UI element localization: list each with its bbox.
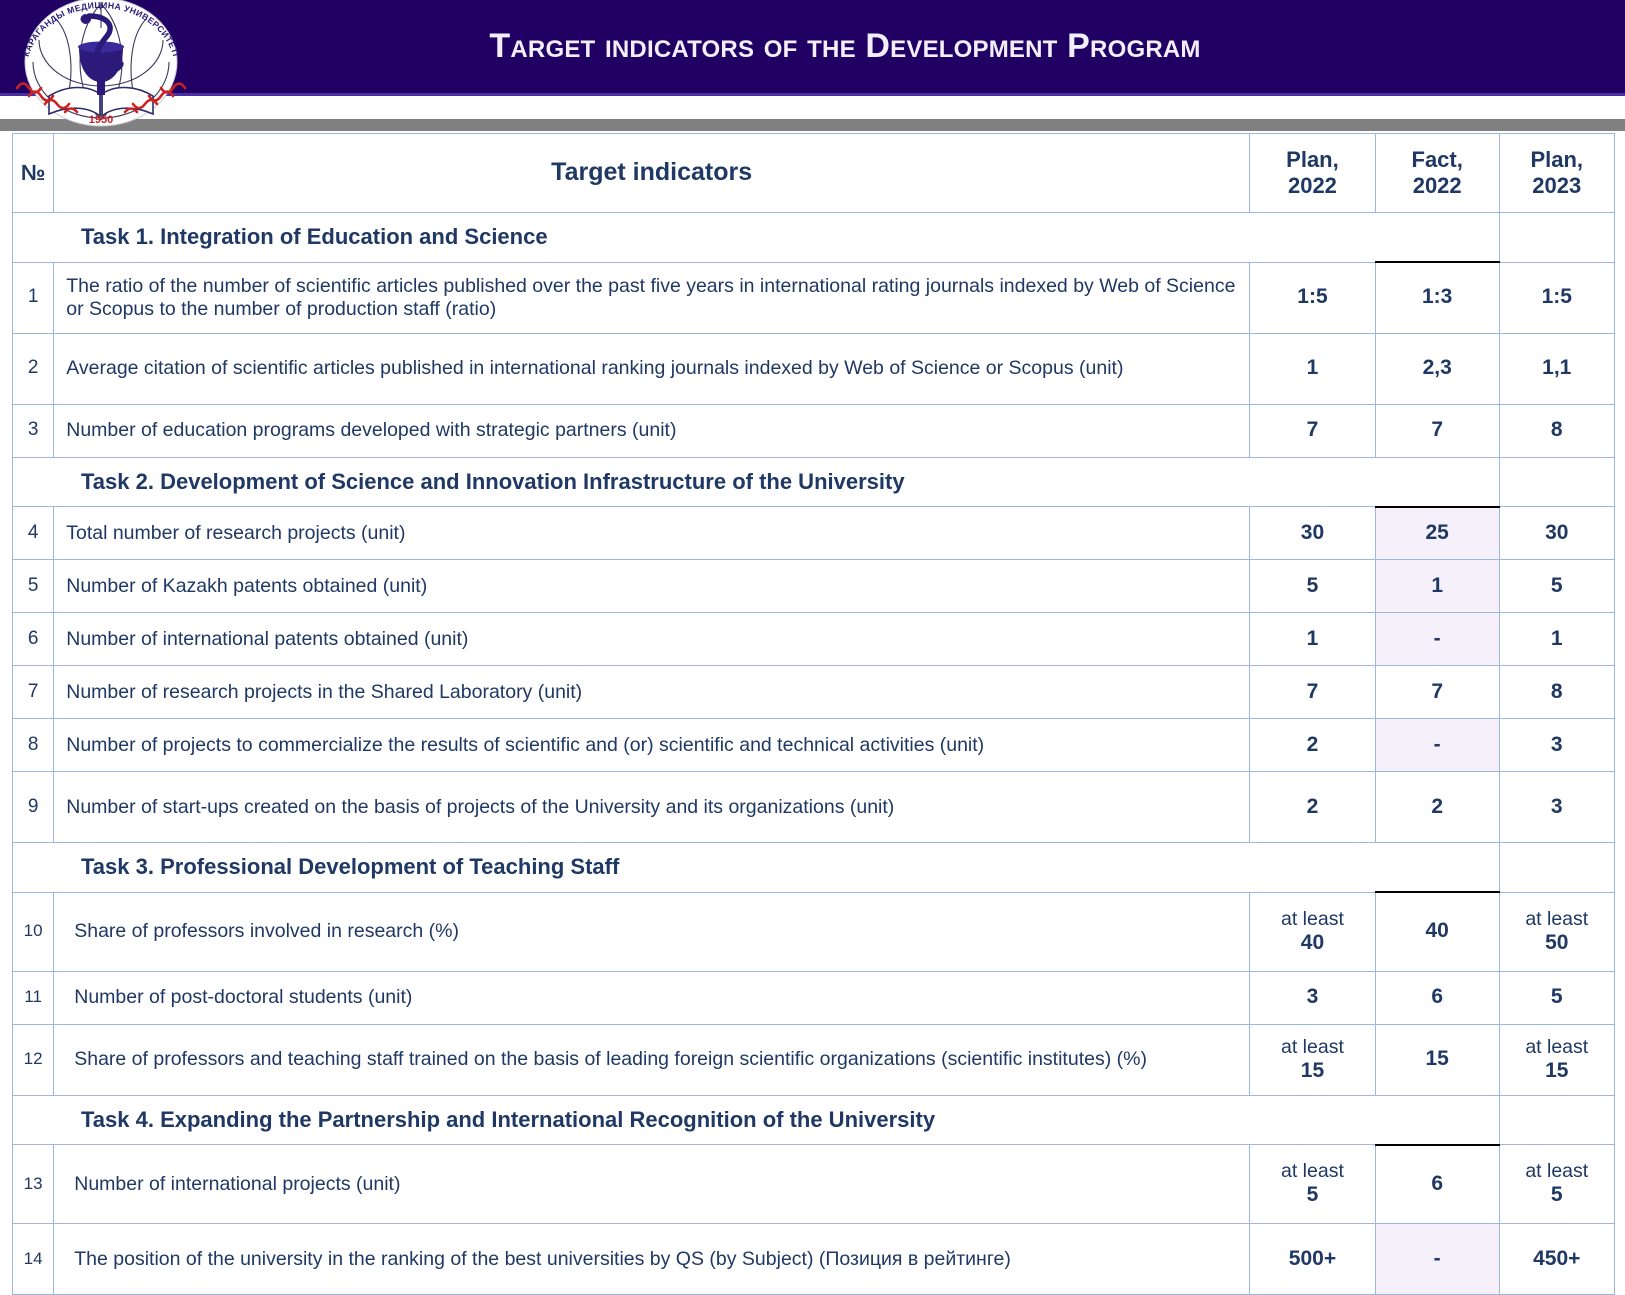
task-title: Task 2. Development of Science and Innov… xyxy=(13,457,1500,507)
fact-2022-value: 2 xyxy=(1375,772,1499,843)
indicator-text: Number of research projects in the Share… xyxy=(54,666,1250,719)
indicator-text: The position of the university in the ra… xyxy=(54,1224,1250,1295)
page-title: Target indicators of the Development Pro… xyxy=(195,0,1495,93)
row-number: 11 xyxy=(13,971,54,1024)
indicator-text: Number of projects to commercialize the … xyxy=(54,719,1250,772)
fact-2022-line1: Fact, xyxy=(1412,147,1463,172)
plan-2023-value-lead: at least xyxy=(1500,909,1614,931)
plan-2022-value-value: 15 xyxy=(1250,1059,1375,1083)
row-number: 10 xyxy=(13,892,54,971)
plan-2023-value-lead: at least xyxy=(1500,1037,1614,1059)
plan-2023-value: 8 xyxy=(1499,404,1614,457)
task-header-row: Task 2. Development of Science and Innov… xyxy=(13,457,1615,507)
table-row: 11Number of post-doctoral students (unit… xyxy=(13,971,1615,1024)
plan-2022-value: 5 xyxy=(1250,560,1376,613)
plan-2023-value: 30 xyxy=(1499,507,1614,560)
col-header-indicator: Target indicators xyxy=(54,134,1250,213)
plan-2023-value-value: 5 xyxy=(1500,1183,1614,1207)
plan-2022-value: 2 xyxy=(1250,772,1376,843)
plan-2022-value: 1 xyxy=(1250,333,1376,404)
table-row: 9Number of start-ups created on the basi… xyxy=(13,772,1615,843)
indicator-text: Number of international patents obtained… xyxy=(54,613,1250,666)
plan-2022-value-value: 5 xyxy=(1250,1183,1375,1207)
indicator-text: Number of post-doctoral students (unit) xyxy=(54,971,1250,1024)
indicator-text: Number of Kazakh patents obtained (unit) xyxy=(54,560,1250,613)
table-body: Task 1. Integration of Education and Sci… xyxy=(13,213,1615,1295)
table-row: 10Share of professors involved in resear… xyxy=(13,892,1615,971)
plan-2023-value: at least15 xyxy=(1499,1024,1614,1095)
row-number: 6 xyxy=(13,613,54,666)
task-header-row: Task 3. Professional Development of Teac… xyxy=(13,843,1615,893)
indicator-text: Number of start-ups created on the basis… xyxy=(54,772,1250,843)
indicators-table-wrapper: № Target indicators Plan, 2022 Fact, 202… xyxy=(12,133,1615,1295)
row-number: 5 xyxy=(13,560,54,613)
plan-2022-value: at least40 xyxy=(1250,892,1376,971)
plan-2023-value: 450+ xyxy=(1499,1224,1614,1295)
fact-2022-value: 25 xyxy=(1375,507,1499,560)
fact-2022-value: 6 xyxy=(1375,1145,1499,1224)
plan-2023-value-lead: at least xyxy=(1500,1161,1614,1183)
plan-2022-value-lead: at least xyxy=(1250,1037,1375,1059)
plan-2022-line1: Plan, xyxy=(1286,147,1339,172)
col-header-plan-2023: Plan, 2023 xyxy=(1499,134,1614,213)
task-title: Task 1. Integration of Education and Sci… xyxy=(13,213,1500,263)
plan-2022-value: 1 xyxy=(1250,613,1376,666)
row-number: 13 xyxy=(13,1145,54,1224)
fact-2022-value: 7 xyxy=(1375,404,1499,457)
table-row: 12Share of professors and teaching staff… xyxy=(13,1024,1615,1095)
row-number: 14 xyxy=(13,1224,54,1295)
plan-2022-value: 500+ xyxy=(1250,1224,1376,1295)
plan-2023-value: at least5 xyxy=(1499,1145,1614,1224)
plan-2022-value: 7 xyxy=(1250,666,1376,719)
indicator-text: Share of professors and teaching staff t… xyxy=(54,1024,1250,1095)
plan-2023-value: 8 xyxy=(1499,666,1614,719)
plan-2022-line2: 2022 xyxy=(1288,173,1337,198)
task-row-blank-cell xyxy=(1499,1095,1614,1145)
gray-divider-bar xyxy=(0,119,1625,131)
fact-2022-value: 6 xyxy=(1375,971,1499,1024)
indicator-text: Number of education programs developed w… xyxy=(54,404,1250,457)
task-title: Task 4. Expanding the Partnership and In… xyxy=(13,1095,1500,1145)
plan-2022-value: at least5 xyxy=(1250,1145,1376,1224)
row-number: 4 xyxy=(13,507,54,560)
indicator-text: Number of international projects (unit) xyxy=(54,1145,1250,1224)
task-header-row: Task 1. Integration of Education and Sci… xyxy=(13,213,1615,263)
task-row-blank-cell xyxy=(1499,843,1614,893)
row-number: 12 xyxy=(13,1024,54,1095)
plan-2023-value: 3 xyxy=(1499,772,1614,843)
header-row: № Target indicators Plan, 2022 Fact, 202… xyxy=(13,134,1615,213)
table-row: 6Number of international patents obtaine… xyxy=(13,613,1615,666)
plan-2022-value: 7 xyxy=(1250,404,1376,457)
task-title: Task 3. Professional Development of Teac… xyxy=(13,843,1500,893)
plan-2023-value-value: 15 xyxy=(1500,1059,1614,1083)
fact-2022-value: - xyxy=(1375,719,1499,772)
table-row: 14The position of the university in the … xyxy=(13,1224,1615,1295)
plan-2022-value-value: 40 xyxy=(1250,931,1375,955)
row-number: 7 xyxy=(13,666,54,719)
row-number: 1 xyxy=(13,262,54,333)
plan-2022-value-lead: at least xyxy=(1250,909,1375,931)
plan-2022-value: 3 xyxy=(1250,971,1376,1024)
table-row: 7Number of research projects in the Shar… xyxy=(13,666,1615,719)
table-row: 13Number of international projects (unit… xyxy=(13,1145,1615,1224)
task-row-blank-cell xyxy=(1499,457,1614,507)
logo-year: 1950 xyxy=(89,114,113,126)
table-header: № Target indicators Plan, 2022 Fact, 202… xyxy=(13,134,1615,213)
fact-2022-value: 1:3 xyxy=(1375,262,1499,333)
fact-2022-value: - xyxy=(1375,1224,1499,1295)
indicator-text: Share of professors involved in research… xyxy=(54,892,1250,971)
plan-2023-value: at least50 xyxy=(1499,892,1614,971)
indicator-text: Average citation of scientific articles … xyxy=(54,333,1250,404)
fact-2022-value: 40 xyxy=(1375,892,1499,971)
row-number: 2 xyxy=(13,333,54,404)
plan-2023-value: 5 xyxy=(1499,971,1614,1024)
table-row: 2Average citation of scientific articles… xyxy=(13,333,1615,404)
fact-2022-line2: 2022 xyxy=(1413,173,1462,198)
table-row: 5Number of Kazakh patents obtained (unit… xyxy=(13,560,1615,613)
table-row: 3Number of education programs developed … xyxy=(13,404,1615,457)
plan-2022-value: 30 xyxy=(1250,507,1376,560)
table-row: 1The ratio of the number of scientific a… xyxy=(13,262,1615,333)
fact-2022-value: - xyxy=(1375,613,1499,666)
plan-2023-value-value: 50 xyxy=(1500,931,1614,955)
row-number: 8 xyxy=(13,719,54,772)
col-header-no: № xyxy=(13,134,54,213)
plan-2022-value: at least15 xyxy=(1250,1024,1376,1095)
plan-2023-value: 1,1 xyxy=(1499,333,1614,404)
fact-2022-value: 1 xyxy=(1375,560,1499,613)
plan-2023-value: 3 xyxy=(1499,719,1614,772)
task-header-row: Task 4. Expanding the Partnership and In… xyxy=(13,1095,1615,1145)
target-indicators-table: № Target indicators Plan, 2022 Fact, 202… xyxy=(12,133,1615,1295)
fact-2022-value: 7 xyxy=(1375,666,1499,719)
plan-2022-value: 2 xyxy=(1250,719,1376,772)
plan-2022-value: 1:5 xyxy=(1250,262,1376,333)
row-number: 9 xyxy=(13,772,54,843)
indicator-text: The ratio of the number of scientific ar… xyxy=(54,262,1250,333)
col-header-fact-2022: Fact, 2022 xyxy=(1375,134,1499,213)
plan-2023-value: 5 xyxy=(1499,560,1614,613)
plan-2023-line2: 2023 xyxy=(1532,173,1581,198)
row-number: 3 xyxy=(13,404,54,457)
plan-2022-value-lead: at least xyxy=(1250,1161,1375,1183)
table-row: 8Number of projects to commercialize the… xyxy=(13,719,1615,772)
fact-2022-value: 15 xyxy=(1375,1024,1499,1095)
header-banner: Target indicators of the Development Pro… xyxy=(0,0,1625,96)
university-logo: КАРАГАНДЫ МЕДИЦИНА УНИВЕРСИТЕТІ 1950 xyxy=(3,0,199,132)
plan-2023-value: 1:5 xyxy=(1499,262,1614,333)
indicator-text: Total number of research projects (unit) xyxy=(54,507,1250,560)
task-row-blank-cell xyxy=(1499,213,1614,263)
table-row: 4Total number of research projects (unit… xyxy=(13,507,1615,560)
fact-2022-value: 2,3 xyxy=(1375,333,1499,404)
col-header-plan-2022: Plan, 2022 xyxy=(1250,134,1376,213)
plan-2023-value: 1 xyxy=(1499,613,1614,666)
plan-2023-line1: Plan, xyxy=(1530,147,1583,172)
